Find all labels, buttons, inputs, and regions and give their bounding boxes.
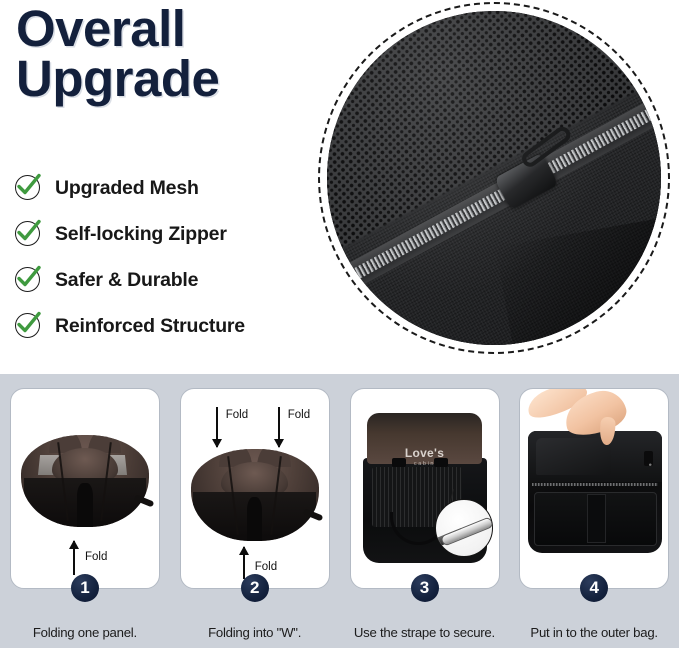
brand-logo: Love's cabin <box>363 446 487 467</box>
bag-logo: • <box>645 463 655 467</box>
check-circle-icon <box>13 265 43 295</box>
feature-label: Safer & Durable <box>55 269 198 292</box>
step-number-badge: 3 <box>411 574 439 602</box>
step-card: Love's cabin <box>350 388 500 589</box>
step-panel-2: Fold Fold <box>170 374 340 648</box>
step-card: Fold Fold <box>180 388 330 589</box>
page-title: Overall Upgrade <box>16 4 346 104</box>
step-panel-1: Fold 1 Folding one panel. <box>0 374 170 648</box>
feature-label: Reinforced Structure <box>55 315 245 338</box>
fold-arrow-label: Fold <box>85 551 107 563</box>
check-circle-icon <box>13 173 43 203</box>
playpen-image-step1 <box>21 435 149 527</box>
feature-label: Self-locking Zipper <box>55 223 227 246</box>
hand-image <box>548 389 636 449</box>
step-number-badge: 1 <box>71 574 99 602</box>
step-caption: Folding into "W". <box>170 625 340 640</box>
step-panel-4: • 4 Put in to the outer bag. <box>509 374 679 648</box>
feature-item: Upgraded Mesh <box>8 165 328 211</box>
step-panel-3: Love's cabin <box>340 374 510 648</box>
feature-item: Self-locking Zipper <box>8 211 328 257</box>
overview-section: Overall Upgrade Upgraded Mesh <box>0 0 679 374</box>
strap-detail-magnifier <box>435 499 493 557</box>
fold-arrow-up <box>69 541 79 575</box>
fold-arrow-down-left <box>212 407 222 447</box>
check-circle-icon <box>13 311 43 341</box>
mesh-zipper-photo <box>327 11 661 345</box>
step-card: Fold 1 <box>10 388 160 589</box>
step-number-badge: 4 <box>580 574 608 602</box>
feature-list: Upgraded Mesh Self-locking Zipper <box>8 165 328 349</box>
feature-label: Upgraded Mesh <box>55 177 199 200</box>
outer-bag-zipper <box>532 483 658 486</box>
fold-arrow-label: Fold <box>226 409 248 421</box>
step-caption: Folding one panel. <box>0 625 170 640</box>
carry-handle <box>587 494 606 543</box>
step-card: • 4 <box>519 388 669 589</box>
folding-steps-section: Fold 1 Folding one panel. Fold <box>0 374 679 648</box>
feature-item: Reinforced Structure <box>8 303 328 349</box>
outer-bag-image: • <box>528 431 662 553</box>
feature-item: Safer & Durable <box>8 257 328 303</box>
check-circle-icon <box>13 219 43 249</box>
step-caption: Use the strape to secure. <box>340 625 510 640</box>
fold-arrow-label: Fold <box>255 561 277 573</box>
page-title-line2: Upgrade <box>16 54 346 104</box>
page-title-line1: Overall <box>16 4 346 54</box>
fold-arrow-down-right <box>274 407 284 447</box>
playpen-image-step2 <box>191 449 319 541</box>
hero-photo <box>318 2 679 354</box>
fold-arrow-up <box>239 547 249 579</box>
folded-carrier-image: Love's cabin <box>363 413 487 563</box>
fold-arrow-label: Fold <box>288 409 310 421</box>
step-number-badge: 2 <box>241 574 269 602</box>
step-caption: Put in to the outer bag. <box>509 625 679 640</box>
infographic-root: Overall Upgrade Upgraded Mesh <box>0 0 679 648</box>
